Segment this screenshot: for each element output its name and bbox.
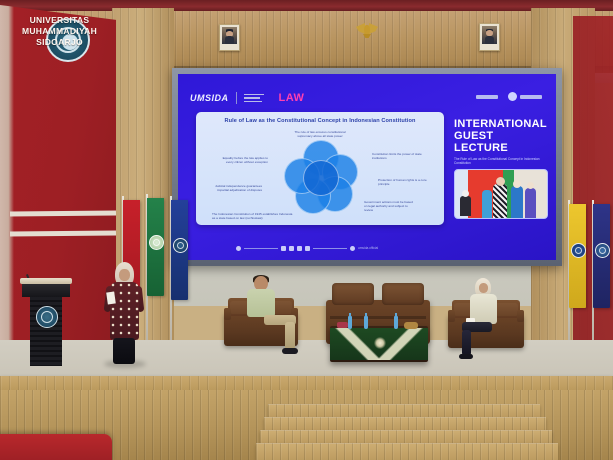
social-icon-2 [281, 246, 286, 251]
diagram-callout-7: The Indonesian Constitution of 1945 esta… [212, 212, 294, 220]
diagram-callout-5: Protection of human rights is a core pri… [378, 178, 430, 186]
seated-panelist-right [464, 278, 520, 360]
stage-step-2[interactable] [264, 417, 546, 431]
slide-partner-logos [476, 92, 542, 101]
portrait-president [219, 24, 240, 51]
partner-logo-2 [508, 92, 542, 101]
umsida-logo: UMSIDA [190, 93, 229, 103]
flag-navy [593, 204, 610, 308]
social-handle: umsida.official [358, 246, 378, 250]
table-item [337, 322, 348, 328]
social-icon-5 [305, 246, 310, 251]
logo-divider [236, 92, 237, 104]
flag-muhammadiyah-green [147, 198, 164, 296]
portrait-vice-president [479, 23, 500, 51]
speaker-notes [106, 292, 116, 305]
speaking-podium[interactable] [24, 278, 68, 366]
lecture-photo-thumbnail [454, 169, 548, 219]
lecture-heading: INTERNATIONAL GUEST LECTURE [454, 118, 546, 154]
slide-social-bar: umsida.official [236, 244, 498, 252]
diagram-callout-1: The rule of law ensures constitutional s… [294, 130, 346, 138]
table-cloth [330, 328, 428, 360]
stage-step-4[interactable] [256, 443, 558, 460]
partner-logo-1 [476, 95, 498, 99]
slide-title: Rule of Law as the Constitutional Concep… [204, 118, 436, 124]
audience-seat[interactable] [0, 434, 112, 460]
auditorium-scene: UNIVERSITAS MUHAMMADIYAH SIDOARJO UMSIDA… [0, 0, 613, 460]
social-icon-3 [289, 246, 294, 251]
social-icon-1 [236, 246, 241, 251]
diagram-callout-2: Equality before the law applies to every… [216, 156, 268, 164]
snack-bowl [404, 322, 418, 329]
logo-secondary-lines [244, 94, 264, 103]
coffee-table[interactable] [330, 326, 428, 362]
garuda-pancasila-icon [356, 22, 378, 38]
seated-panelist-left [240, 276, 302, 358]
water-bottle [364, 316, 368, 329]
law-faculty-logo: LAW [279, 92, 305, 104]
stage-edge [0, 376, 613, 390]
presentation-slide-card: Rule of Law as the Constitutional Concep… [196, 112, 444, 225]
wall-trim-lower [10, 230, 116, 236]
slide-brand-logos: UMSIDA LAW [190, 92, 304, 104]
diagram-callout-3: Judicial independence guarantees imparti… [210, 184, 262, 192]
social-icon-4 [297, 246, 302, 251]
diagram-callout-4: Constitution limits the power of state i… [372, 152, 424, 160]
flag-yellow [569, 204, 586, 308]
stage-step-3[interactable] [260, 430, 552, 444]
stage-step-1[interactable] [268, 404, 540, 418]
social-icon-6 [350, 246, 355, 251]
water-bottle [348, 316, 352, 329]
standing-speaker [104, 262, 144, 366]
water-bottle [394, 316, 398, 329]
flag-university-blue [171, 200, 188, 300]
lecture-subheading: The Rule of Law as the Constitutional Co… [454, 157, 546, 165]
wall-trim-upper [10, 210, 116, 216]
petal-circle-diagram [284, 140, 356, 212]
diagram-callout-6: Government actions must be based on lega… [364, 200, 416, 213]
university-name-text: UNIVERSITAS MUHAMMADIYAH SIDOARJO [12, 15, 107, 48]
podium-seal-icon [36, 306, 58, 328]
led-screen[interactable]: UMSIDA LAW Rule of Law as the Constituti… [178, 74, 556, 260]
slide-right-panel: INTERNATIONAL GUEST LECTURE The Rule of … [454, 118, 546, 219]
